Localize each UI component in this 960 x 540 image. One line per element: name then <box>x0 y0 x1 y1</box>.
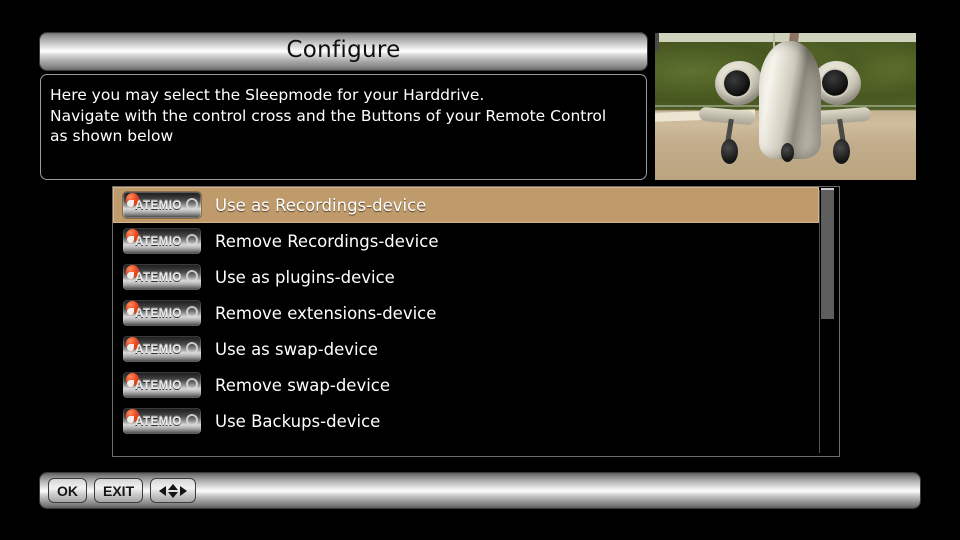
description-panel: Here you may select the Sleepmode for yo… <box>40 74 647 180</box>
exit-button-label: EXIT <box>103 484 134 498</box>
window-title-bar: Configure <box>40 33 647 70</box>
atemio-ring-icon <box>186 270 198 282</box>
list-item-label: Use as Recordings-device <box>215 196 426 215</box>
wheel-nose <box>781 143 794 162</box>
arrow-right-icon <box>180 486 187 496</box>
list-item[interactable]: ATEMIORemove swap-device <box>113 367 819 403</box>
atemio-wordmark: ATEMIO <box>135 236 182 248</box>
list-item[interactable]: ATEMIOUse as plugins-device <box>113 259 819 295</box>
list-item-label: Remove swap-device <box>215 376 390 395</box>
ok-button[interactable]: OK <box>48 478 87 503</box>
list-item-label: Remove extensions-device <box>215 304 436 323</box>
wing-right <box>814 107 871 126</box>
dpad-arrows-icon <box>159 484 187 498</box>
wheel-right <box>833 139 850 164</box>
device-action-list: ATEMIOUse as Recordings-deviceATEMIORemo… <box>112 186 840 457</box>
engine-inlet-right <box>820 68 849 97</box>
description-line-2: Navigate with the control cross and the … <box>50 106 637 127</box>
list-item[interactable]: ATEMIOUse Backups-device <box>113 403 819 439</box>
landing-gear-strut-nose <box>655 33 659 51</box>
atemio-logo-icon: ATEMIO <box>123 228 201 254</box>
atemio-logo-icon: ATEMIO <box>123 408 201 434</box>
atemio-logo-icon: ATEMIO <box>123 372 201 398</box>
engine-inlet-left <box>722 69 751 98</box>
arrow-up-icon <box>168 484 178 490</box>
arrow-down-icon <box>168 492 178 498</box>
list-item-label: Remove Recordings-device <box>215 232 438 251</box>
atemio-logo-icon: ATEMIO <box>123 300 201 326</box>
list-item-label: Use as swap-device <box>215 340 378 359</box>
dpad-navigation-button[interactable] <box>150 478 196 503</box>
atemio-ring-icon <box>186 378 198 390</box>
atemio-ring-icon <box>186 234 198 246</box>
fuselage <box>759 41 821 159</box>
atemio-wordmark: ATEMIO <box>135 380 182 392</box>
atemio-wordmark: ATEMIO <box>135 272 182 284</box>
atemio-ring-icon <box>186 198 198 210</box>
remote-key-hint-bar: OK EXIT <box>40 473 920 508</box>
list-viewport[interactable]: ATEMIOUse as Recordings-deviceATEMIORemo… <box>113 187 819 456</box>
arrow-left-icon <box>159 486 166 496</box>
airplane-photo <box>655 33 916 180</box>
exit-button[interactable]: EXIT <box>94 478 143 503</box>
list-item[interactable]: ATEMIORemove Recordings-device <box>113 223 819 259</box>
list-scrollbar-thumb[interactable] <box>821 190 834 319</box>
atemio-logo-icon: ATEMIO <box>123 264 201 290</box>
atemio-ring-icon <box>186 342 198 354</box>
atemio-wordmark: ATEMIO <box>135 200 182 212</box>
ok-button-label: OK <box>57 484 78 498</box>
page-title: Configure <box>286 39 400 64</box>
list-item-label: Use Backups-device <box>215 412 380 431</box>
list-scrollbar-track[interactable] <box>819 190 834 453</box>
list-item[interactable]: ATEMIORemove extensions-device <box>113 295 819 331</box>
engine-left <box>712 58 766 108</box>
atemio-wordmark: ATEMIO <box>135 308 182 320</box>
arrow-updown-icon <box>168 484 178 498</box>
list-item-label: Use as plugins-device <box>215 268 395 287</box>
tv-preview-window <box>655 33 916 180</box>
wheel-left <box>721 139 738 164</box>
list-item[interactable]: ATEMIOUse as Recordings-device <box>113 187 819 223</box>
atemio-wordmark: ATEMIO <box>135 344 182 356</box>
atemio-ring-icon <box>186 306 198 318</box>
list-item[interactable]: ATEMIOUse as swap-device <box>113 331 819 367</box>
atemio-logo-icon: ATEMIO <box>123 336 201 362</box>
atemio-logo-icon: ATEMIO <box>123 192 201 218</box>
atemio-ring-icon <box>186 414 198 426</box>
description-line-1: Here you may select the Sleepmode for yo… <box>50 85 637 106</box>
tv-settings-screen: Configure Here you may select the Sleepm… <box>0 0 960 540</box>
description-line-3: as shown below <box>50 126 637 147</box>
atemio-wordmark: ATEMIO <box>135 416 182 428</box>
